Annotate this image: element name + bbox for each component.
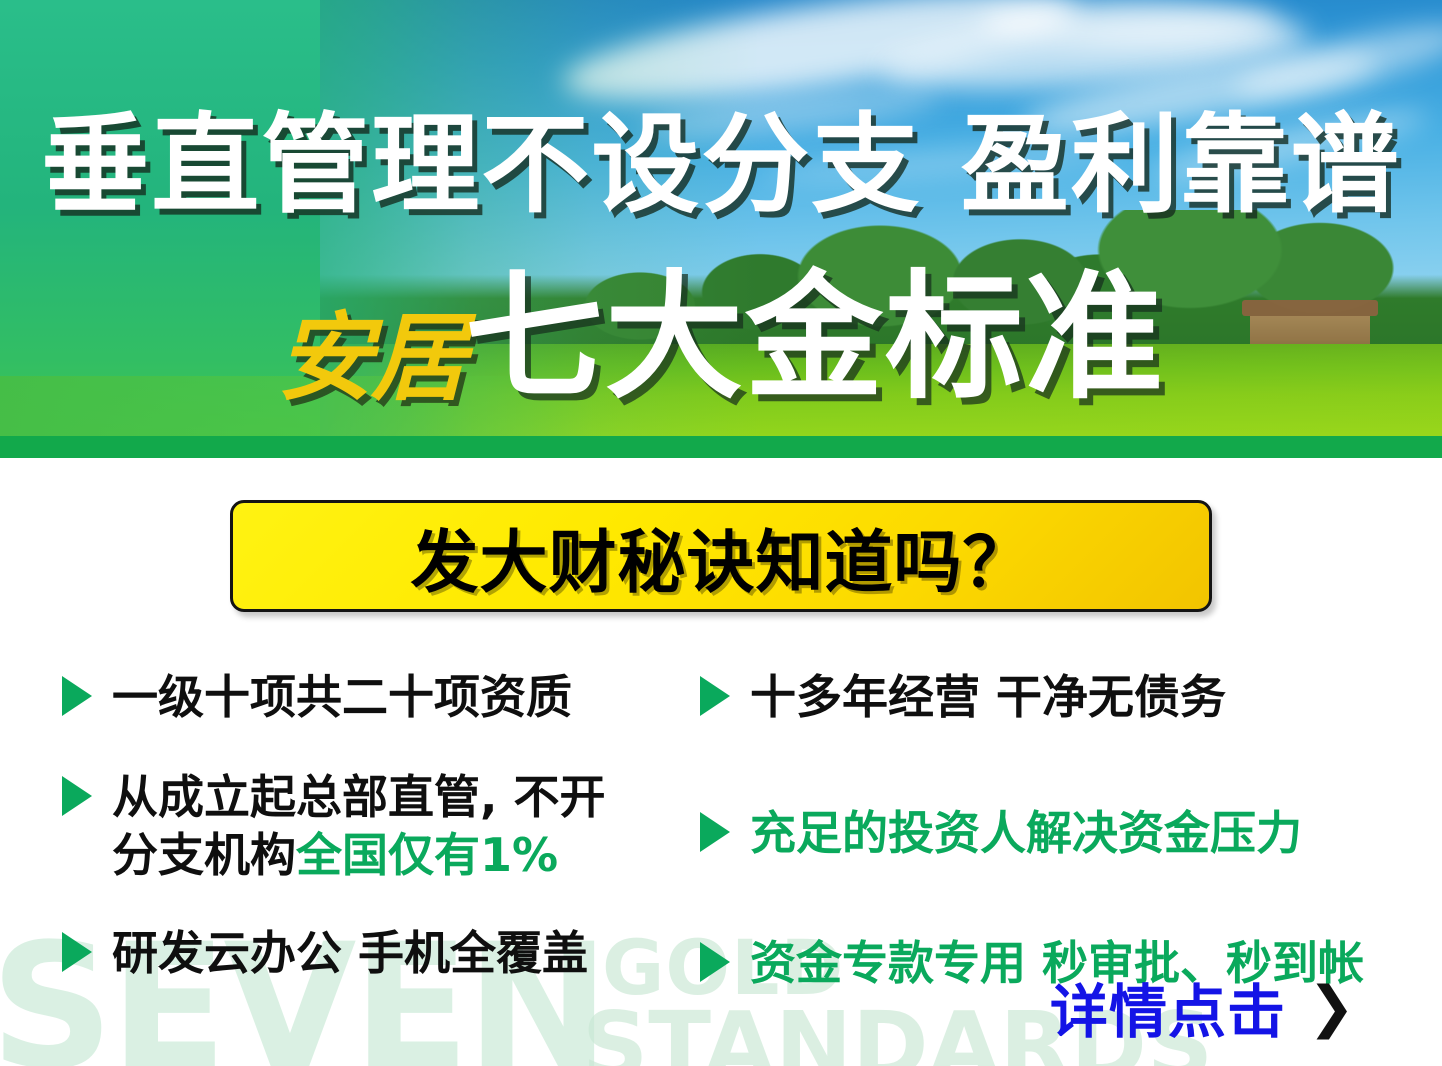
details-cta-button[interactable]: 详情点击 ❯ <box>1050 965 1355 1049</box>
promo-banner: 垂直管理不设分支 盈利靠谱 安居七大金标准 发大财秘诀知道吗？ SEVEN GO… <box>0 0 1442 1066</box>
list-item: 从成立起总部直管, 不开 分支机构全国仅有1% <box>62 768 702 884</box>
feature-text: 一级十项共二十项资质 <box>112 668 572 726</box>
hero-headline: 垂直管理不设分支 盈利靠谱 <box>0 112 1442 220</box>
headline-callout-text: 发大财秘诀知道吗？ <box>410 507 1031 606</box>
details-cta-label: 详情点击 <box>1050 965 1286 1049</box>
chevron-right-icon: ❯ <box>1308 980 1355 1036</box>
triangle-right-icon <box>62 776 92 816</box>
triangle-right-icon <box>700 942 730 982</box>
hero-subtitle: 七大金标准 <box>465 268 1165 408</box>
hero-subline: 安居七大金标准 <box>0 268 1442 451</box>
feature-text: 充足的投资人解决资金压力 <box>750 804 1302 862</box>
feature-text-highlight: 全国仅有1% <box>296 828 558 882</box>
triangle-right-icon <box>62 932 92 972</box>
triangle-right-icon <box>700 812 730 852</box>
list-item: 十多年经营 干净无债务 <box>700 668 1400 726</box>
hero-image: 垂直管理不设分支 盈利靠谱 安居七大金标准 <box>0 0 1442 458</box>
feature-list-left: 一级十项共二十项资质 从成立起总部直管, 不开 分支机构全国仅有1% 研发云办公… <box>62 668 702 1020</box>
feature-text: 研发云办公 手机全覆盖 <box>112 924 588 982</box>
headline-callout-banner[interactable]: 发大财秘诀知道吗？ <box>230 500 1212 612</box>
list-item: 充足的投资人解决资金压力 <box>700 804 1400 862</box>
triangle-right-icon <box>62 676 92 716</box>
feature-text: 十多年经营 干净无债务 <box>750 668 1226 726</box>
feature-text: 从成立起总部直管, 不开 分支机构全国仅有1% <box>112 768 606 884</box>
hero-brand-prefix: 安居 <box>277 288 465 428</box>
list-item: 研发云办公 手机全覆盖 <box>62 924 702 982</box>
triangle-right-icon <box>700 676 730 716</box>
list-item: 一级十项共二十项资质 <box>62 668 702 726</box>
